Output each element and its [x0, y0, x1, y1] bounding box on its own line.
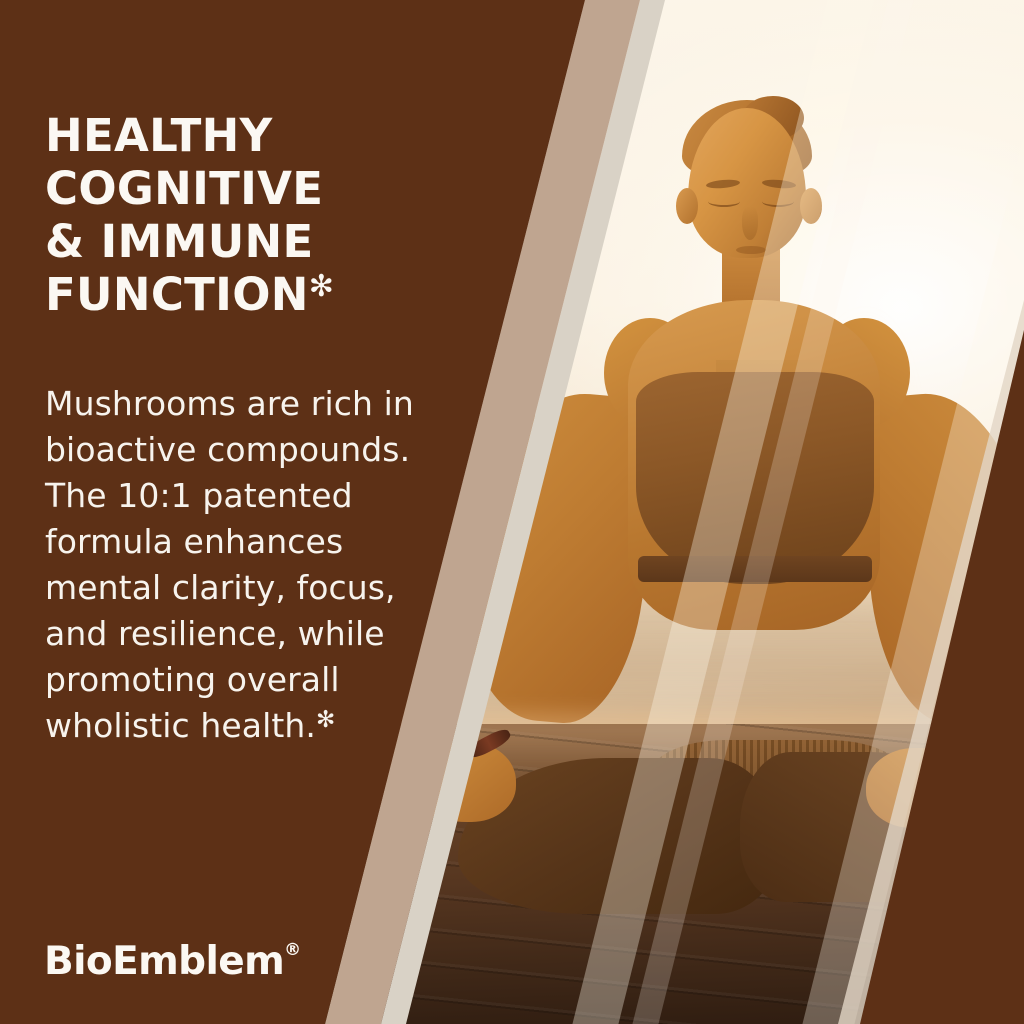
- mouth: [736, 246, 766, 254]
- sports-bra-band: [638, 556, 872, 582]
- left-eye-closed: [708, 196, 740, 207]
- body-copy: Mushrooms are rich in bioactive compound…: [45, 381, 445, 749]
- registered-trademark-icon: ®: [284, 940, 300, 960]
- headline-line-2: & IMMUNE FUNCTION: [45, 215, 314, 321]
- right-ear: [800, 188, 822, 224]
- headline-line-1: HEALTHY COGNITIVE: [45, 109, 323, 215]
- asterisk-icon: ✻: [309, 269, 334, 304]
- asterisk-icon-footnote: ✻: [316, 707, 335, 733]
- promo-banner: HEALTHY COGNITIVE& IMMUNE FUNCTION✻ Mush…: [0, 0, 1024, 1024]
- left-ear: [676, 188, 698, 224]
- brand-name: BioEmblem: [44, 939, 284, 984]
- page-title: HEALTHY COGNITIVE& IMMUNE FUNCTION✻: [45, 109, 565, 321]
- brand-logo: BioEmblem®: [44, 940, 301, 984]
- sports-bra: [636, 372, 874, 584]
- right-eye-closed: [762, 196, 794, 207]
- nose: [742, 206, 758, 240]
- body-copy-text: Mushrooms are rich in bioactive compound…: [45, 384, 414, 745]
